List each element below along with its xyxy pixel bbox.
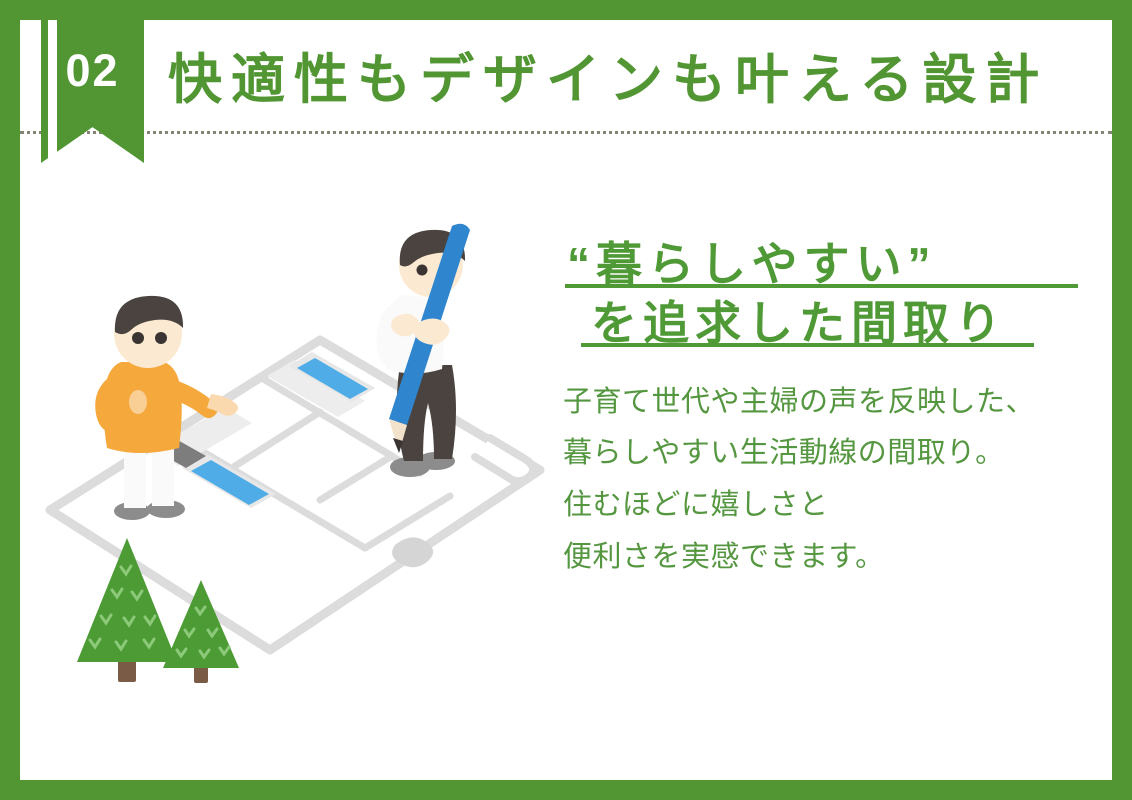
body-line-4: 便利さを実感できます。 [563, 532, 1103, 584]
headline: “暮らしやすい” を追求した間取り [563, 235, 1103, 353]
poster-page: 02 快適性もデザインも叶える設計 [0, 0, 1132, 800]
headline-underline-2 [581, 343, 1034, 347]
body-line-1: 子育て世代や主婦の声を反映した、 [563, 377, 1103, 429]
headline-line-1: “暮らしやすい” [563, 235, 1103, 294]
body-line-3: 住むほどに嬉しさと [563, 480, 1103, 532]
headline-line-2-text: を追求した間取り [591, 297, 1007, 349]
headline-line-1-text: “暮らしやすい” [567, 238, 937, 290]
page-title: 快適性もデザインも叶える設計 [168, 52, 1048, 109]
poster-inner-canvas: 02 快適性もデザインも叶える設計 [20, 20, 1112, 780]
headline-line-2: を追求した間取り [563, 294, 1103, 353]
header-dotted-divider [20, 131, 1112, 134]
body-copy: 子育て世代や主婦の声を反映した、 暮らしやすい生活動線の間取り。 住むほどに嬉し… [563, 377, 1103, 583]
content-column: “暮らしやすい” を追求した間取り 子育て世代や主婦の声を反映した、 暮らしやす… [563, 235, 1103, 583]
ribbon-white-stripe [48, 20, 57, 183]
illustration [20, 180, 580, 720]
body-line-2: 暮らしやすい生活動線の間取り。 [563, 428, 1103, 480]
headline-underline-1 [565, 284, 1078, 288]
